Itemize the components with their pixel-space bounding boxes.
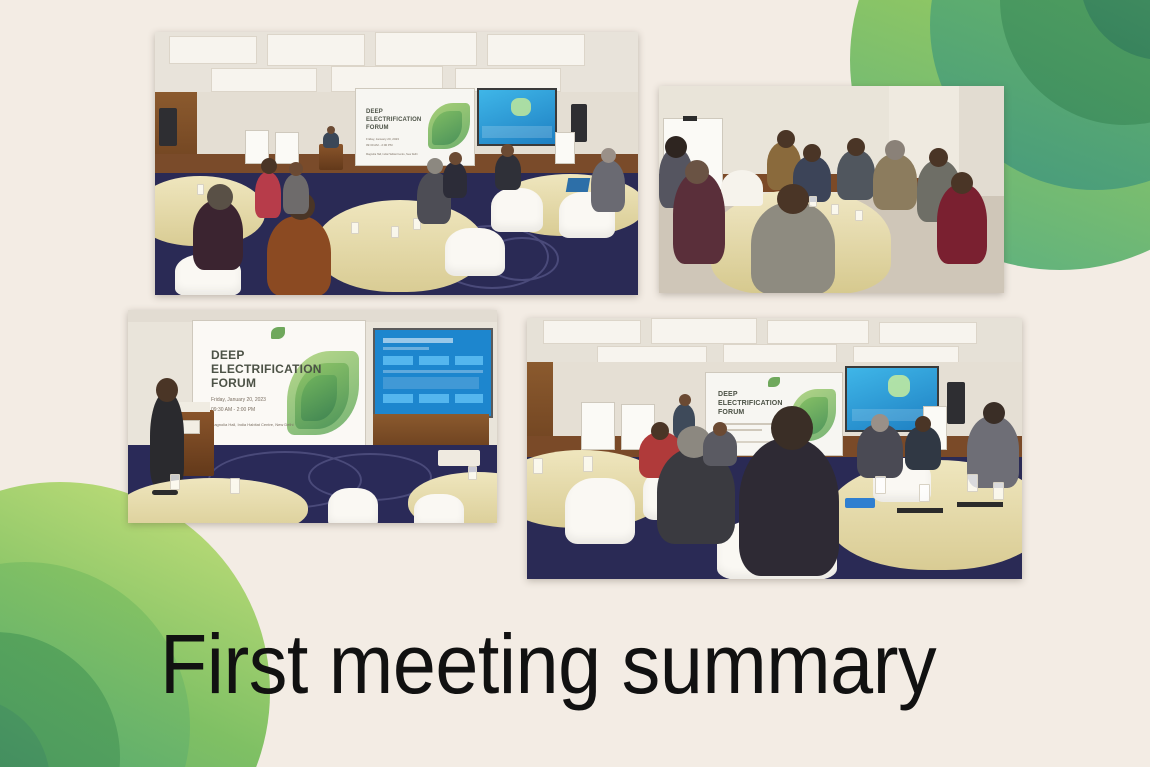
banner-time: 09:30 AM - 2:00 PM xyxy=(366,143,393,147)
banner-line-1: DEEP xyxy=(366,109,383,116)
projection-screen xyxy=(477,88,557,146)
event-backdrop: DEEP ELECTRIFICATION FORUM Friday, Janua… xyxy=(192,320,366,452)
slide-title: First meeting summary xyxy=(160,616,936,713)
backdrop-date: Friday, January 20, 2023 xyxy=(211,397,266,404)
presentation-slide: DEEP ELECTRIFICATION FORUM Friday, Janua… xyxy=(0,0,1150,767)
banner-date: Friday, January 20, 2023 xyxy=(366,137,399,141)
backdrop-time: 09:30 AM - 2:00 PM xyxy=(211,407,255,414)
slide-projection xyxy=(373,328,493,418)
photo-podium-speaker-backdrop: DEEP ELECTRIFICATION FORUM Friday, Janua… xyxy=(128,310,497,523)
banner-line-3: FORUM xyxy=(366,125,389,132)
banner4-line-2: ELECTRIFICATION xyxy=(718,400,783,408)
backdrop-line-1: DEEP xyxy=(211,349,245,362)
backdrop-venue: Magnolia Hall, India Habitat Centre, New… xyxy=(211,422,293,428)
photo-conference-hall-podium: DEEP ELECTRIFICATION FORUM Friday, Janua… xyxy=(155,32,638,295)
banner4-line-3: FORUM xyxy=(718,409,744,417)
backdrop-line-2: ELECTRIFICATION xyxy=(211,363,322,376)
banner-line-2: ELECTRIFICATION xyxy=(366,117,421,124)
banner-venue: Magnolia Hall, India Habitat Centre, New… xyxy=(366,153,418,157)
foreground-attendee xyxy=(739,438,839,576)
backdrop-line-3: FORUM xyxy=(211,377,256,390)
photo-audience-from-behind: DEEP ELECTRIFICATION FORUM xyxy=(527,318,1022,579)
photo-roundtable-discussion xyxy=(659,86,1004,293)
banner4-line-1: DEEP xyxy=(718,391,738,399)
